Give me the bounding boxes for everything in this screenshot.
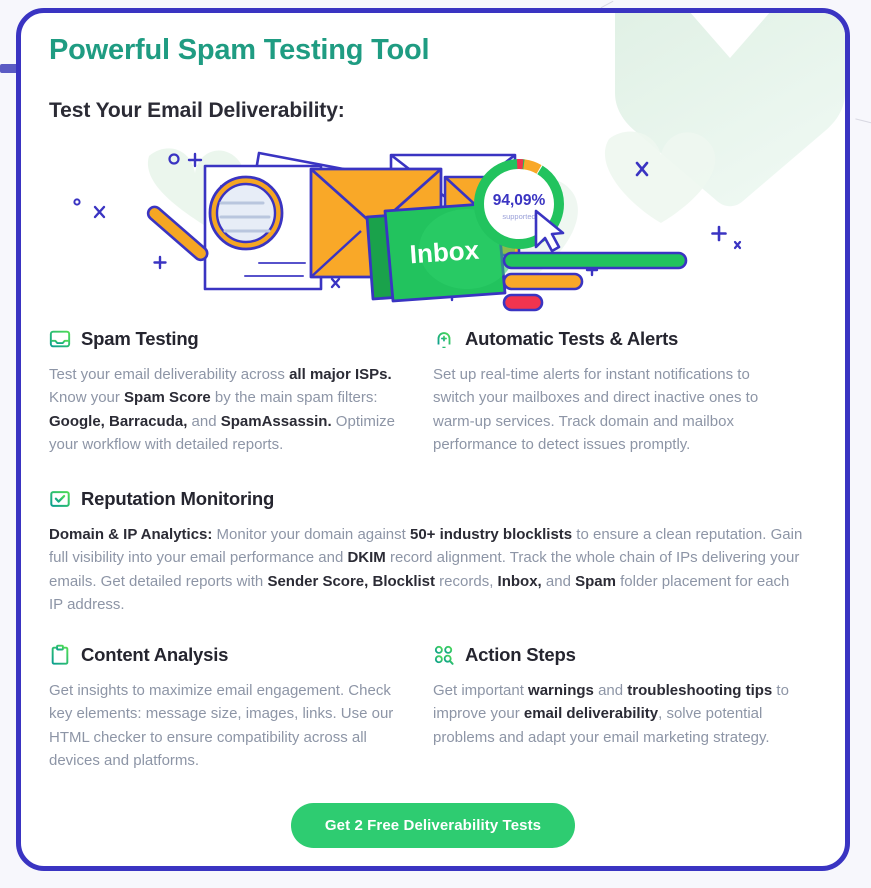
- score-value: 94,09%: [493, 192, 546, 209]
- feature-header: Automatic Tests & Alerts: [433, 327, 791, 351]
- feature-title: Content Analysis: [81, 644, 228, 666]
- steps-search-icon: [433, 643, 455, 667]
- feature-content-analysis: Content Analysis Get insights to maximiz…: [49, 643, 433, 773]
- inbox-folder-label: Inbox: [409, 234, 481, 269]
- feature-spam-testing: Spam Testing Test your email deliverabil…: [49, 327, 433, 457]
- spacer: [49, 457, 817, 487]
- feature-title: Action Steps: [465, 644, 576, 666]
- feature-automatic-tests: Automatic Tests & Alerts Set up real-tim…: [433, 327, 817, 457]
- hero-illustration: Inbox 94,09% supported: [49, 131, 817, 321]
- feature-title: Automatic Tests & Alerts: [465, 328, 678, 350]
- bell-alert-icon: [433, 327, 455, 351]
- clipboard-icon: [49, 643, 71, 667]
- page-subtitle: Test Your Email Deliverability:: [49, 99, 817, 123]
- feature-reputation-monitoring: Reputation Monitoring Domain & IP Analyt…: [49, 487, 817, 617]
- inbox-icon: [49, 327, 71, 351]
- features-grid: Spam Testing Test your email deliverabil…: [49, 327, 817, 848]
- feature-action-steps: Action Steps Get important warnings and …: [433, 643, 817, 773]
- feature-title: Spam Testing: [81, 328, 199, 350]
- illustration-svg: Inbox 94,09% supported: [49, 131, 829, 321]
- checkbox-checked-icon: [49, 487, 71, 511]
- spacer: [49, 617, 817, 643]
- feature-title: Reputation Monitoring: [81, 488, 274, 510]
- feature-body: Get important warnings and troubleshooti…: [433, 679, 791, 750]
- feature-header: Reputation Monitoring: [49, 487, 805, 511]
- feature-body: Domain & IP Analytics: Monitor your doma…: [49, 523, 805, 617]
- feature-header: Spam Testing: [49, 327, 407, 351]
- feature-header: Action Steps: [433, 643, 791, 667]
- feature-body: Test your email deliverability across al…: [49, 363, 407, 457]
- features-row: Reputation Monitoring Domain & IP Analyt…: [49, 487, 817, 617]
- get-free-tests-button[interactable]: Get 2 Free Deliverability Tests: [291, 803, 575, 848]
- features-row: Content Analysis Get insights to maximiz…: [49, 643, 817, 773]
- feature-body: Get insights to maximize email engagemen…: [49, 679, 407, 773]
- feature-body: Set up real-time alerts for instant noti…: [433, 363, 791, 457]
- page-title: Powerful Spam Testing Tool: [49, 35, 817, 67]
- score-caption: supported: [502, 212, 535, 221]
- decorative-hairline: [855, 118, 871, 126]
- feature-header: Content Analysis: [49, 643, 407, 667]
- cta-container: Get 2 Free Deliverability Tests: [49, 803, 817, 848]
- spam-testing-card: Powerful Spam Testing Tool Test Your Ema…: [16, 8, 850, 871]
- features-row: Spam Testing Test your email deliverabil…: [49, 327, 817, 457]
